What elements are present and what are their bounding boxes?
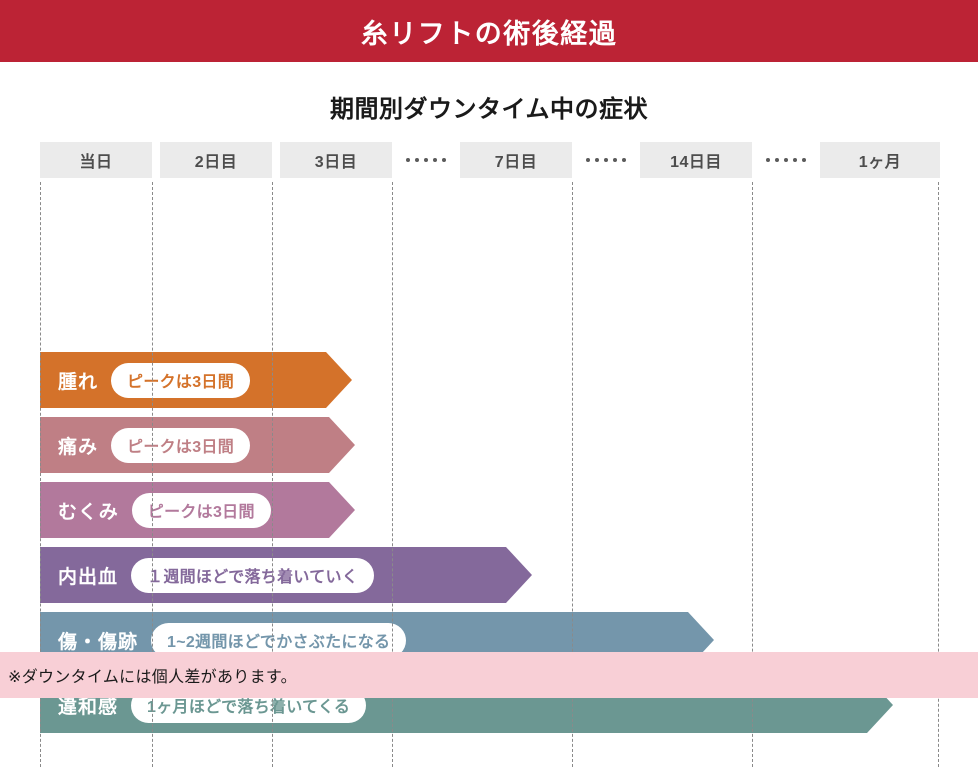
timeline-chart: 当日2日目3日目7日目14日目1ヶ月 腫れピークは3日間痛みピークは3日間むくみ… xyxy=(0,142,978,642)
timeline-bars: 腫れピークは3日間痛みピークは3日間むくみピークは3日間内出血１週間ほどで落ち着… xyxy=(0,142,978,642)
bar-annotation-pill: １週間ほどで落ち着いていく xyxy=(131,558,374,593)
bar-annotation-pill: ピークは3日間 xyxy=(111,363,250,398)
disclaimer-note: ※ダウンタイムには個人差があります。 xyxy=(8,663,297,687)
timeline-bar: むくみピークは3日間 xyxy=(40,482,355,538)
bar-category-label: 内出血 xyxy=(58,562,118,589)
page-title: 糸リフトの術後経過 xyxy=(361,12,618,51)
bar-category-label: むくみ xyxy=(58,497,119,524)
page-banner: 糸リフトの術後経過 xyxy=(0,0,978,62)
bar-category-label: 傷・傷跡 xyxy=(58,627,138,654)
timeline-bar: 痛みピークは3日間 xyxy=(40,417,355,473)
timeline-bar: 腫れピークは3日間 xyxy=(40,352,352,408)
bar-category-label: 痛み xyxy=(58,432,98,459)
chart-subtitle: 期間別ダウンタイム中の症状 xyxy=(0,89,978,124)
bar-category-label: 腫れ xyxy=(58,367,98,394)
timeline-bar: 内出血１週間ほどで落ち着いていく xyxy=(40,547,532,603)
footer-band: ※ダウンタイムには個人差があります。 xyxy=(0,652,978,698)
bar-annotation-pill: ピークは3日間 xyxy=(111,428,250,463)
